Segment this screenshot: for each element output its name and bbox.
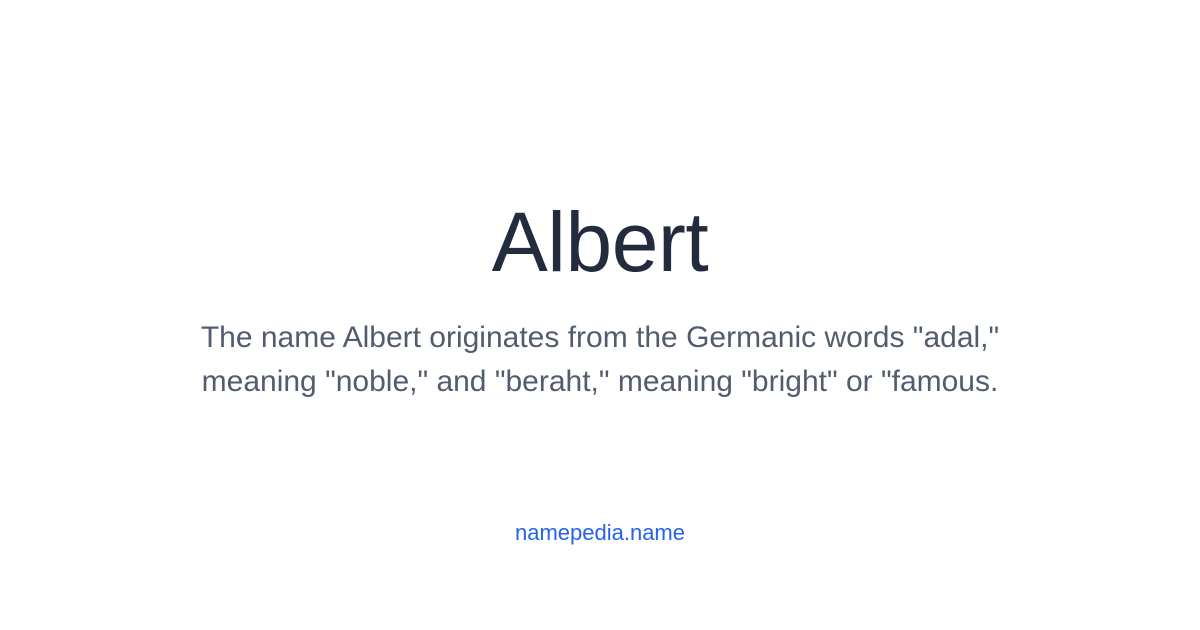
page-title: Albert [0,194,1200,290]
site-link[interactable]: namepedia.name [515,520,685,545]
name-meaning-card: Albert The name Albert originates from t… [0,0,1200,630]
card-footer: namepedia.name [0,518,1200,548]
name-description: The name Albert originates from the Germ… [150,316,1050,404]
